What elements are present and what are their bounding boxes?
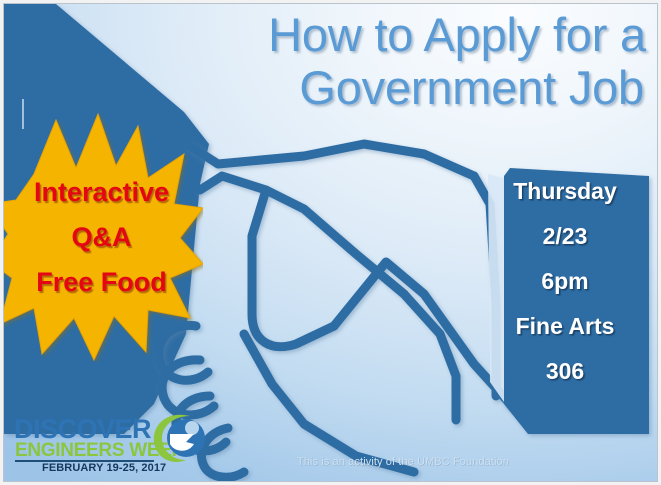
detail-venue: Fine Arts	[490, 315, 640, 338]
discover-engineers-week-logo: DISCOVER ENGINEERS WEEK FEBRUARY 19-25, …	[14, 412, 204, 474]
detail-date: 2/23	[490, 225, 640, 248]
detail-time: 6pm	[490, 270, 640, 293]
detail-room: 306	[490, 360, 640, 383]
title-line-2: Government Job	[180, 61, 650, 114]
event-details: Thursday 2/23 6pm Fine Arts 306	[490, 180, 640, 383]
event-poster: How to Apply for a Government Job Thursd…	[0, 0, 661, 485]
title-line-1: How to Apply for a	[180, 8, 650, 61]
handshake-strokes	[190, 144, 520, 472]
starburst-badge	[0, 112, 203, 362]
detail-day: Thursday	[490, 180, 640, 203]
page-title: How to Apply for a Government Job	[180, 8, 650, 114]
footer-note: This is an activity of the UMBC Foundati…	[297, 456, 509, 468]
logo-date-text: FEBRUARY 19-25, 2017	[42, 462, 166, 474]
globe-swoosh-icon	[150, 412, 206, 464]
